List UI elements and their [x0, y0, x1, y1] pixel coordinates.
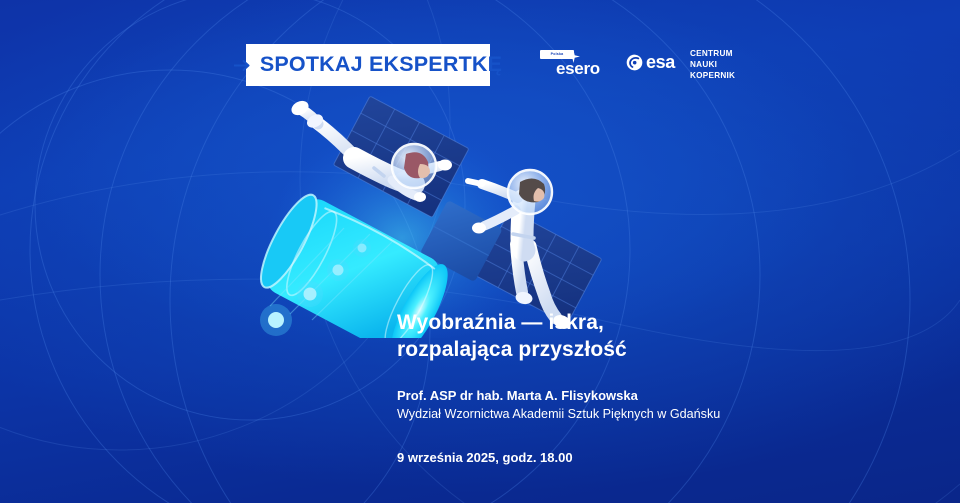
banner-label: SPOTKAJ EKSPERTKĘ	[260, 54, 502, 76]
headline-line-1: Wyobraźnia — iskra,	[397, 311, 604, 334]
spotkaj-ekspertke-banner[interactable]: SPOTKAJ EKSPERTKĘ	[246, 44, 490, 86]
speaker-info: Prof. ASP dr hab. Marta A. Flisykowska W…	[397, 387, 867, 423]
astronauts-spacecraft-illustration	[252, 88, 622, 338]
arrow-right-icon	[234, 59, 251, 72]
esa-wordmark: esa	[646, 53, 675, 71]
speaker-name: Prof. ASP dr hab. Marta A. Flisykowska	[397, 387, 867, 404]
partner-logo-row: Polska esero esa CENTRUM NAUKI KOPERNIK	[534, 42, 754, 88]
poster-text-block: Wyobraźnia — iskra, rozpalająca przyszło…	[397, 310, 867, 466]
esero-badge-label: Polska	[551, 53, 564, 57]
cnk-line-3: KOPERNIK	[690, 71, 735, 82]
cnk-line-2: NAUKI	[690, 60, 735, 71]
esero-wordmark: esero	[556, 60, 600, 77]
event-datetime: 9 września 2025, godz. 18.00	[397, 450, 867, 467]
headline-line-2: rozpalająca przyszłość	[397, 338, 627, 361]
cnk-line-1: CENTRUM	[690, 49, 735, 60]
esero-logo: Polska esero	[540, 48, 616, 82]
esa-swirl-icon	[626, 54, 643, 71]
event-poster: SPOTKAJ EKSPERTKĘ Polska esero esa CENTR…	[0, 0, 960, 503]
esa-logo: esa	[626, 53, 675, 71]
centrum-nauki-kopernik-logo: CENTRUM NAUKI KOPERNIK	[690, 49, 735, 81]
page-title: Wyobraźnia — iskra, rozpalająca przyszło…	[397, 310, 867, 363]
speaker-affiliation: Wydział Wzornictwa Akademii Sztuk Piękny…	[397, 406, 867, 423]
